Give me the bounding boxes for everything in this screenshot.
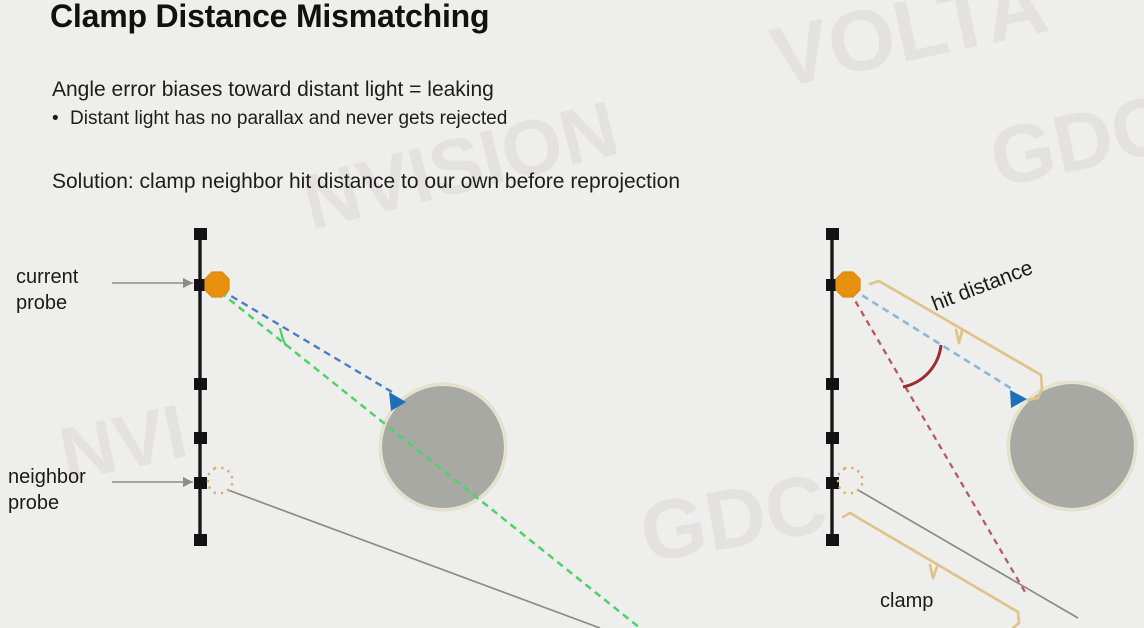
- left-angle-error-arc: [280, 328, 286, 346]
- right-occluder-sphere: [1008, 382, 1136, 510]
- slide-canvas: VOLTANVISIONGDCGDCNVI Clamp Distance Mis…: [0, 0, 1144, 628]
- left-blue-ray: [221, 290, 406, 411]
- right-current-probe-marker: [836, 272, 860, 297]
- right-angle-arc: [903, 345, 941, 387]
- hit-distance-label: hit distance: [929, 256, 1036, 316]
- right-red-ray: [850, 292, 1025, 592]
- clamp-label: clamp: [880, 590, 933, 612]
- right-diagram-group: hit distance clamp: [826, 228, 1136, 628]
- neighbor-probe-pointer-arrow: [112, 477, 193, 487]
- right-neighbor-probe-marker: [838, 468, 862, 493]
- right-probe-wall: [826, 228, 839, 546]
- left-neighbor-probe-marker: [208, 468, 232, 493]
- current-probe-pointer-arrow: [112, 278, 193, 288]
- left-probe-wall: [194, 228, 207, 546]
- left-diagram-group: [112, 228, 640, 628]
- diagram-svg: hit distance clamp: [0, 0, 1144, 628]
- left-gray-ray: [228, 490, 600, 628]
- left-current-probe-marker: [205, 272, 229, 297]
- left-green-ray: [220, 292, 640, 628]
